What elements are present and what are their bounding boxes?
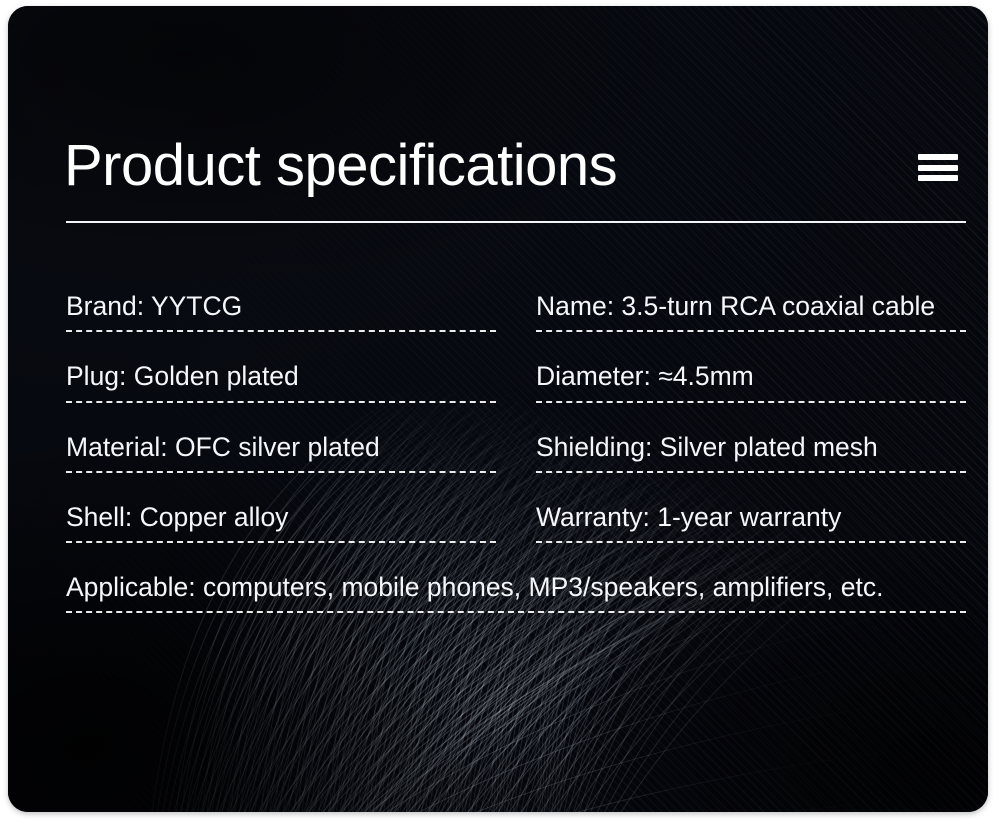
- hamburger-menu-icon[interactable]: [918, 154, 958, 181]
- spec-row: Brand: YYTCG Name: 3.5-turn RCA coaxial …: [66, 291, 966, 332]
- spec-cell-name: Name: 3.5-turn RCA coaxial cable: [536, 291, 966, 332]
- title-row: Product specifications: [64, 136, 966, 195]
- hamburger-bar-1: [918, 154, 958, 160]
- spec-row: Plug: Golden plated Diameter: ≈4.5mm: [66, 361, 966, 402]
- page-title: Product specifications: [64, 136, 617, 195]
- spec-text-shell: Shell: Copper alloy: [66, 502, 496, 533]
- spec-cell-applicable: Applicable: computers, mobile phones, MP…: [66, 572, 966, 613]
- title-divider: [66, 221, 966, 223]
- spec-text-plug: Plug: Golden plated: [66, 361, 496, 392]
- spec-text-material: Material: OFC silver plated: [66, 432, 496, 463]
- spec-text-warranty: Warranty: 1-year warranty: [536, 502, 966, 533]
- spec-cell-brand: Brand: YYTCG: [66, 291, 496, 332]
- spec-cell-material: Material: OFC silver plated: [66, 432, 496, 473]
- spec-text-diameter: Diameter: ≈4.5mm: [536, 361, 966, 392]
- spec-cell-warranty: Warranty: 1-year warranty: [536, 502, 966, 543]
- spec-cell-plug: Plug: Golden plated: [66, 361, 496, 402]
- spec-row: Shell: Copper alloy Warranty: 1-year war…: [66, 502, 966, 543]
- spec-text-brand: Brand: YYTCG: [66, 291, 496, 322]
- specifications-grid: Brand: YYTCG Name: 3.5-turn RCA coaxial …: [66, 291, 966, 613]
- product-specifications-card: Product specifications Brand: YYTCG Name…: [8, 6, 988, 812]
- spec-cell-shielding: Shielding: Silver plated mesh: [536, 432, 966, 473]
- spec-text-shielding: Shielding: Silver plated mesh: [536, 432, 966, 463]
- card-content: Product specifications Brand: YYTCG Name…: [8, 6, 988, 812]
- hamburger-bar-2: [918, 165, 958, 171]
- spec-row: Material: OFC silver plated Shielding: S…: [66, 432, 966, 473]
- spec-text-applicable: Applicable: computers, mobile phones, MP…: [66, 572, 966, 603]
- spec-cell-shell: Shell: Copper alloy: [66, 502, 496, 543]
- spec-row: Applicable: computers, mobile phones, MP…: [66, 572, 966, 613]
- hamburger-bar-3: [918, 175, 958, 181]
- spec-text-name: Name: 3.5-turn RCA coaxial cable: [536, 291, 966, 322]
- spec-cell-diameter: Diameter: ≈4.5mm: [536, 361, 966, 402]
